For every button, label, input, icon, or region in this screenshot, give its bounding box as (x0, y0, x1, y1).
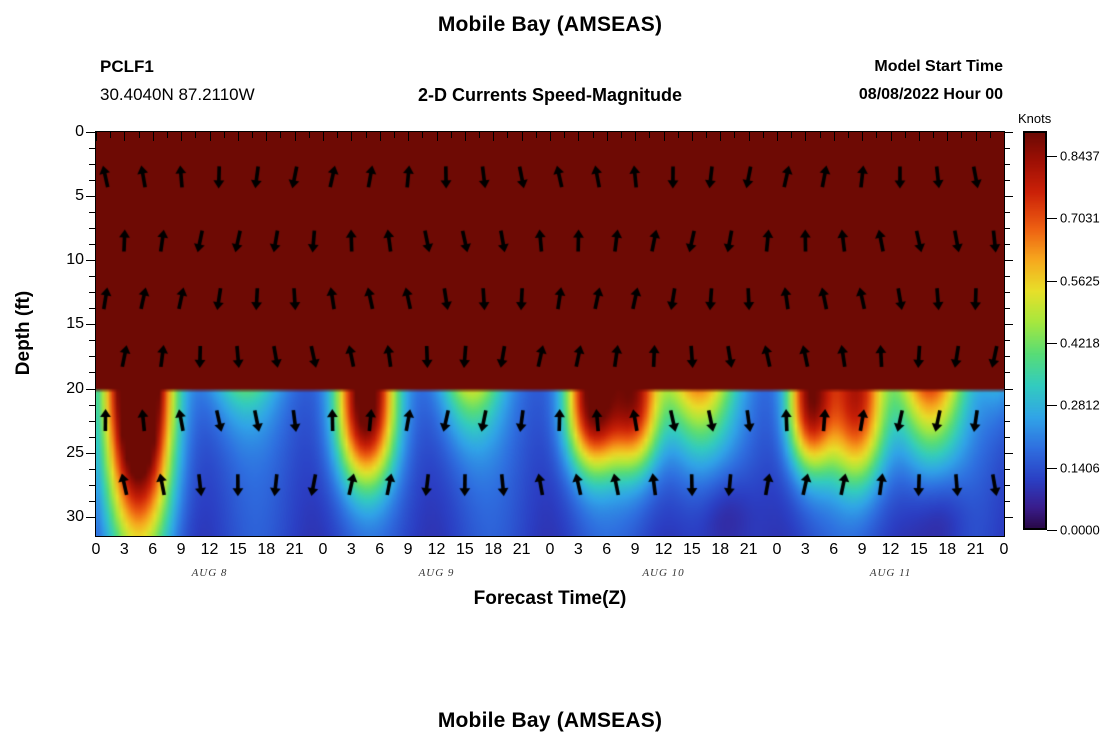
x-tick-minor (763, 132, 764, 138)
y-tick-minor (89, 276, 95, 277)
x-tick (408, 132, 409, 141)
y-tick-minor-right (1004, 164, 1010, 165)
x-tick (493, 132, 494, 141)
x-tick-label: 6 (602, 541, 611, 559)
y-tick-label: 30 (66, 508, 84, 526)
x-tick-label: 9 (404, 541, 413, 559)
x-axis-day-label: AUG 8 (192, 567, 228, 579)
x-tick (777, 132, 778, 141)
y-tick (86, 132, 95, 133)
colorbar-tick-label: 0.14062 (1060, 460, 1100, 475)
x-tick-label: 18 (711, 541, 729, 559)
y-tick-right (1004, 260, 1013, 261)
x-tick (1004, 132, 1005, 141)
x-tick-label: 15 (229, 541, 247, 559)
x-tick (380, 132, 381, 141)
y-tick-minor-right (1004, 308, 1010, 309)
x-tick-label: 0 (773, 541, 782, 559)
x-tick-label: 18 (484, 541, 502, 559)
model-start-time-value: 08/08/2022 Hour 00 (0, 86, 1003, 104)
x-tick (749, 132, 750, 141)
x-tick-minor (451, 132, 452, 138)
x-tick-label: 12 (882, 541, 900, 559)
x-tick-minor (990, 132, 991, 138)
y-axis-title: Depth (ft) (13, 291, 35, 375)
y-tick (86, 260, 95, 261)
y-tick-minor (89, 148, 95, 149)
x-axis-title: Forecast Time(Z) (0, 588, 1100, 610)
x-tick-label: 21 (740, 541, 758, 559)
x-tick-minor (876, 132, 877, 138)
x-tick-label: 3 (347, 541, 356, 559)
y-tick-minor-right (1004, 405, 1010, 406)
y-tick-minor-right (1004, 228, 1010, 229)
x-tick (550, 132, 551, 141)
y-tick-minor (89, 164, 95, 165)
x-tick-label: 12 (428, 541, 446, 559)
x-tick (96, 132, 97, 141)
y-tick-right (1004, 453, 1013, 454)
y-tick-right (1004, 132, 1013, 133)
x-tick-minor (337, 132, 338, 138)
x-tick (947, 132, 948, 141)
y-tick-minor-right (1004, 469, 1010, 470)
colorbar-tick (1047, 343, 1057, 344)
x-tick-minor (564, 132, 565, 138)
colorbar-tick (1047, 281, 1057, 282)
model-start-time-label: Model Start Time (0, 58, 1003, 76)
y-tick-label: 20 (66, 380, 84, 398)
x-tick-minor (479, 132, 480, 138)
colorbar-tick (1047, 156, 1057, 157)
x-tick-minor (280, 132, 281, 138)
y-tick-minor-right (1004, 421, 1010, 422)
y-tick-label: 25 (66, 444, 84, 462)
y-tick-minor (89, 405, 95, 406)
x-tick-minor (961, 132, 962, 138)
x-tick-label: 18 (938, 541, 956, 559)
x-tick-label: 15 (456, 541, 474, 559)
x-tick-label: 6 (375, 541, 384, 559)
x-tick-minor (621, 132, 622, 138)
colorbar-frame (1023, 131, 1047, 530)
x-tick (919, 132, 920, 141)
x-tick-label: 21 (967, 541, 985, 559)
y-tick-minor (89, 356, 95, 357)
x-tick (607, 132, 608, 141)
x-tick-minor (536, 132, 537, 138)
y-tick-minor-right (1004, 485, 1010, 486)
y-tick (86, 196, 95, 197)
colorbar-tick-label: 0.28125 (1060, 398, 1100, 413)
y-tick-minor-right (1004, 340, 1010, 341)
x-tick (153, 132, 154, 141)
x-tick (692, 132, 693, 141)
y-tick-minor-right (1004, 501, 1010, 502)
x-tick-minor (848, 132, 849, 138)
page-title-top: Mobile Bay (AMSEAS) (0, 13, 1100, 37)
y-tick-label: 15 (66, 315, 84, 333)
colorbar-tick-label: 0.56250 (1060, 273, 1100, 288)
y-tick-right (1004, 389, 1013, 390)
y-tick-minor-right (1004, 244, 1010, 245)
y-tick-right (1004, 196, 1013, 197)
x-tick-minor (678, 132, 679, 138)
x-tick (295, 132, 296, 141)
plot-frame (95, 131, 1005, 537)
x-tick-minor (649, 132, 650, 138)
page-title-bottom: Mobile Bay (AMSEAS) (0, 709, 1100, 733)
y-tick-minor (89, 292, 95, 293)
x-tick-label: 3 (574, 541, 583, 559)
x-tick-label: 9 (858, 541, 867, 559)
x-tick-label: 9 (177, 541, 186, 559)
x-tick-minor (593, 132, 594, 138)
y-tick-minor (89, 244, 95, 245)
y-tick-minor-right (1004, 276, 1010, 277)
x-tick-minor (224, 132, 225, 138)
x-tick-minor (905, 132, 906, 138)
colorbar-tick-label: 0.42187 (1060, 335, 1100, 350)
colorbar-title: Knots (1018, 111, 1051, 126)
x-tick (522, 132, 523, 141)
y-tick-label: 0 (75, 123, 84, 141)
x-tick-label: 0 (319, 541, 328, 559)
x-tick-minor (422, 132, 423, 138)
colorbar-tick (1047, 218, 1057, 219)
x-tick-minor (252, 132, 253, 138)
x-tick (862, 132, 863, 141)
x-tick-label: 9 (631, 541, 640, 559)
x-tick (238, 132, 239, 141)
y-tick-minor (89, 212, 95, 213)
colorbar-tick-label: 0.00000 (1060, 523, 1100, 538)
x-tick-minor (195, 132, 196, 138)
x-tick-label: 6 (829, 541, 838, 559)
x-tick-label: 15 (683, 541, 701, 559)
x-tick-minor (139, 132, 140, 138)
x-tick-minor (706, 132, 707, 138)
y-tick-minor-right (1004, 212, 1010, 213)
y-tick (86, 517, 95, 518)
y-tick-minor (89, 180, 95, 181)
x-tick (720, 132, 721, 141)
x-tick-label: 12 (655, 541, 673, 559)
y-tick-right (1004, 517, 1013, 518)
x-tick (976, 132, 977, 141)
x-tick (664, 132, 665, 141)
x-axis-day-label: AUG 9 (419, 567, 455, 579)
x-tick (465, 132, 466, 141)
y-tick-minor (89, 228, 95, 229)
y-tick (86, 389, 95, 390)
x-tick (635, 132, 636, 141)
y-tick-minor (89, 469, 95, 470)
y-tick-minor-right (1004, 292, 1010, 293)
y-tick-minor (89, 308, 95, 309)
x-tick (210, 132, 211, 141)
x-tick-label: 21 (513, 541, 531, 559)
x-tick-label: 3 (120, 541, 129, 559)
x-tick-label: 0 (1000, 541, 1009, 559)
x-tick-label: 21 (286, 541, 304, 559)
x-tick-minor (167, 132, 168, 138)
y-tick-minor-right (1004, 356, 1010, 357)
x-tick-minor (820, 132, 821, 138)
y-tick-minor (89, 437, 95, 438)
x-tick (578, 132, 579, 141)
x-tick-minor (507, 132, 508, 138)
y-tick-minor (89, 340, 95, 341)
y-tick-right (1004, 324, 1013, 325)
x-tick-label: 3 (801, 541, 810, 559)
y-tick-minor-right (1004, 180, 1010, 181)
y-tick-minor-right (1004, 437, 1010, 438)
x-axis-day-label: AUG 11 (870, 567, 912, 579)
x-tick-minor (734, 132, 735, 138)
x-tick-minor (394, 132, 395, 138)
x-axis-day-label: AUG 10 (642, 567, 684, 579)
x-tick (181, 132, 182, 141)
x-tick (437, 132, 438, 141)
colorbar-tick (1047, 468, 1057, 469)
x-tick-minor (366, 132, 367, 138)
x-tick-minor (110, 132, 111, 138)
y-tick (86, 324, 95, 325)
x-tick (351, 132, 352, 141)
y-tick-label: 10 (66, 251, 84, 269)
y-tick (86, 453, 95, 454)
y-tick-minor (89, 421, 95, 422)
y-tick-minor (89, 501, 95, 502)
x-tick (323, 132, 324, 141)
x-tick-label: 6 (148, 541, 157, 559)
x-tick-label: 0 (546, 541, 555, 559)
x-tick-minor (933, 132, 934, 138)
x-tick-minor (791, 132, 792, 138)
x-tick (124, 132, 125, 141)
y-tick-minor-right (1004, 148, 1010, 149)
x-tick-label: 18 (257, 541, 275, 559)
x-tick-label: 0 (92, 541, 101, 559)
x-tick (266, 132, 267, 141)
colorbar-tick-label: 0.84375 (1060, 148, 1100, 163)
colorbar-tick (1047, 530, 1057, 531)
x-tick (834, 132, 835, 141)
colorbar-tick-label: 0.70312 (1060, 211, 1100, 226)
x-tick (891, 132, 892, 141)
x-tick-minor (309, 132, 310, 138)
y-tick-label: 5 (75, 187, 84, 205)
y-tick-minor-right (1004, 372, 1010, 373)
y-tick-minor (89, 485, 95, 486)
colorbar-tick (1047, 405, 1057, 406)
y-tick-minor (89, 372, 95, 373)
x-tick (805, 132, 806, 141)
x-tick-label: 15 (910, 541, 928, 559)
x-tick-label: 12 (201, 541, 219, 559)
